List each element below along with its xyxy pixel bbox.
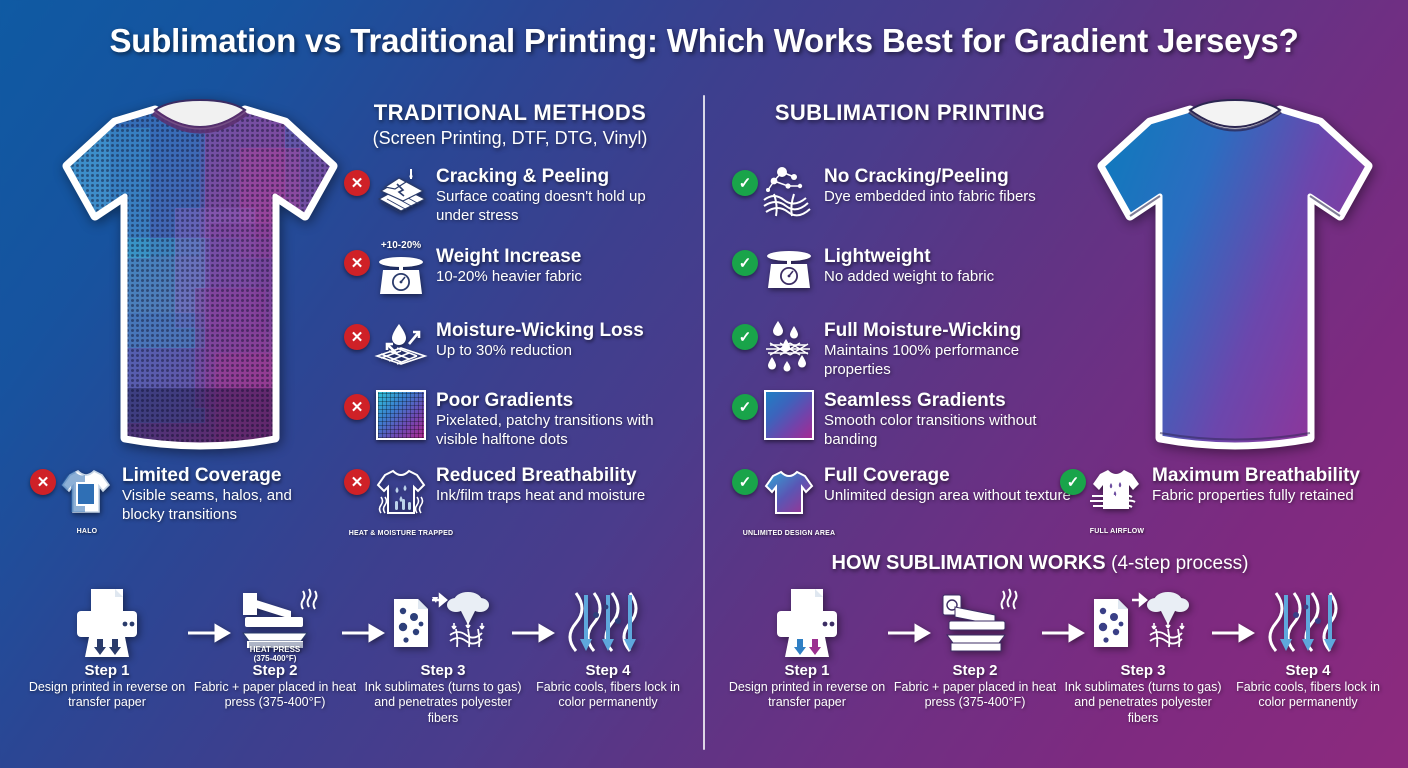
halftone-gradient-swatch-icon	[372, 386, 430, 444]
traditional-subheading: (Screen Printing, DTF, DTG, Vinyl)	[330, 128, 690, 149]
right-process-step-3: Step 3 Ink sublimates (turns to gas) and…	[1058, 584, 1228, 726]
process-heading: HOW SUBLIMATION WORKS (4-step process)	[720, 552, 1360, 575]
x-badge-icon: ✕	[344, 324, 370, 350]
check-badge-icon: ✓	[732, 394, 758, 420]
column-divider	[703, 95, 705, 750]
gas-penetration-icon	[358, 584, 528, 662]
item-desc: Visible seams, halos, and blocky transit…	[122, 487, 337, 524]
infographic-canvas: Sublimation vs Traditional Printing: Whi…	[0, 0, 1408, 768]
shirt-halo-icon: HALO	[58, 461, 116, 523]
step-label: Step 3	[1058, 662, 1228, 679]
item-desc: Ink/film traps heat and moisture	[436, 487, 684, 505]
step-label: Step 1	[22, 662, 192, 679]
halo-label: HALO	[77, 528, 98, 535]
item-desc: Smooth color transitions without banding	[824, 412, 1072, 449]
right-process-step-2: Step 2 Fabric + paper placed in heat pre…	[890, 584, 1060, 711]
item-title: Maximum Breathability	[1152, 465, 1408, 486]
x-badge-icon: ✕	[344, 250, 370, 276]
step-label: Step 3	[358, 662, 528, 679]
right-process-step-4: Step 4 Fabric cools, fibers lock in colo…	[1228, 584, 1388, 711]
airflow-shirt-icon: FULL AIRFLOW	[1088, 461, 1146, 523]
printer-icon	[722, 584, 892, 662]
item-title: Moisture-Wicking Loss	[436, 320, 684, 341]
traditional-item-coverage: ✕ HALO Limited Coverage Visible seams, h…	[30, 465, 350, 524]
gradient-shirt-icon: UNLIMITED DESIGN AREA	[760, 461, 818, 525]
step-desc: Ink sublimates (turns to gas) and penetr…	[1058, 680, 1228, 726]
item-title: Poor Gradients	[436, 390, 684, 411]
sublimation-column-header: SUBLIMATION PRINTING	[720, 100, 1100, 126]
step-desc: Fabric cools, fibers lock in color perma…	[1228, 680, 1388, 711]
item-desc: Unlimited design area without texture	[824, 487, 1072, 505]
unlimited-design-area-label: UNLIMITED DESIGN AREA	[743, 530, 836, 537]
step-desc: Fabric + paper placed in heat press (375…	[190, 680, 360, 711]
traditional-item-weight: ✕ +10-20% Weight Increase 10-20% heavier…	[344, 246, 684, 300]
item-title: Cracking & Peeling	[436, 166, 676, 187]
item-desc: Maintains 100% performance properties	[824, 342, 1072, 379]
traditional-item-gradients: ✕ Poor Gradients Pixelated, patchy trans…	[344, 390, 684, 449]
heat-press-icon	[890, 584, 1060, 662]
step-label: Step 4	[528, 662, 688, 679]
item-title: No Cracking/Peeling	[824, 166, 1072, 187]
kitchen-scale-icon: +10-20%	[372, 242, 430, 300]
sublimation-jersey-image	[1085, 88, 1385, 473]
traditional-item-moisture: ✕ Moisture-Wicking Loss Up to 30% reduct…	[344, 320, 684, 374]
item-desc: 10-20% heavier fabric	[436, 268, 676, 286]
item-title: Lightweight	[824, 246, 1072, 267]
x-badge-icon: ✕	[344, 170, 370, 196]
right-process-step-1: Step 1 Design printed in reverse on tran…	[722, 584, 892, 711]
step-desc: Design printed in reverse on transfer pa…	[22, 680, 192, 711]
step-desc: Fabric + paper placed in heat press (375…	[890, 680, 1060, 711]
item-desc: Pixelated, patchy transitions with visib…	[436, 412, 684, 449]
water-droplets-mesh-icon	[760, 316, 818, 374]
item-title: Limited Coverage	[122, 465, 337, 486]
page-title: Sublimation vs Traditional Printing: Whi…	[0, 22, 1408, 60]
left-process-step-1: Step 1 Design printed in reverse on tran…	[22, 584, 192, 711]
fiber-lock-icon	[1228, 584, 1388, 662]
sublimation-item-moisture: ✓ Full Moisture-Wicking	[732, 320, 1072, 379]
item-desc: Fabric properties fully retained	[1152, 487, 1408, 505]
left-process-step-3: Step 3 Ink sublimates (turns to gas) and…	[358, 584, 528, 726]
smooth-gradient-swatch-icon	[760, 386, 818, 444]
kitchen-scale-icon	[760, 242, 818, 300]
dye-molecule-fibers-icon	[760, 162, 818, 220]
item-desc: Dye embedded into fabric fibers	[824, 188, 1072, 206]
step-label: Step 2	[190, 662, 360, 679]
step-label: Step 2	[890, 662, 1060, 679]
item-title: Full Moisture-Wicking	[824, 320, 1072, 341]
traditional-jersey-image	[55, 88, 345, 473]
heat-press-icon-label: HEAT PRESS (375-400°F)	[250, 646, 301, 664]
heat-moisture-label: HEAT & MOISTURE TRAPPED	[349, 530, 453, 537]
item-desc: Up to 30% reduction	[436, 342, 684, 360]
sweaty-shirt-icon: HEAT & MOISTURE TRAPPED	[372, 461, 430, 525]
item-title: Seamless Gradients	[824, 390, 1072, 411]
traditional-column-header: TRADITIONAL METHODS (Screen Printing, DT…	[330, 100, 690, 149]
step-label: Step 4	[1228, 662, 1388, 679]
check-badge-icon: ✓	[732, 250, 758, 276]
check-badge-icon: ✓	[732, 170, 758, 196]
step-desc: Design printed in reverse on transfer pa…	[722, 680, 892, 711]
check-badge-icon: ✓	[732, 469, 758, 495]
step-desc: Ink sublimates (turns to gas) and penetr…	[358, 680, 528, 726]
full-airflow-label: FULL AIRFLOW	[1090, 528, 1145, 535]
traditional-item-cracking: ✕ Cracking & Peeling Surface coating doe…	[344, 166, 684, 225]
sublimation-heading: SUBLIMATION PRINTING	[720, 100, 1100, 126]
check-badge-icon: ✓	[732, 324, 758, 350]
fiber-lock-icon	[528, 584, 688, 662]
left-process-step-2: HEAT PRESS (375-400°F) Step 2 Fabric + p…	[190, 584, 360, 711]
traditional-heading: TRADITIONAL METHODS	[330, 100, 690, 126]
sublimation-item-breathability: ✓ FULL AIRFLOW Maximum Breathability	[1060, 465, 1408, 523]
sublimation-item-gradients: ✓ Seamless Gradients Smooth color transi…	[732, 390, 1072, 449]
sublimation-item-lightweight: ✓ Lightweight No added weight to fabric	[732, 246, 1072, 300]
gas-penetration-icon	[1058, 584, 1228, 662]
sublimation-item-coverage: ✓ UNLIMITED DESIGN AREA Full Coverage Un…	[732, 465, 1072, 525]
item-desc: Surface coating doesn't hold up under st…	[436, 188, 676, 225]
cracked-layers-icon	[372, 162, 430, 220]
item-title: Weight Increase	[436, 246, 676, 267]
water-repel-fabric-icon	[372, 316, 430, 374]
printer-icon	[22, 584, 192, 662]
process-heading-sub: (4-step process)	[1111, 553, 1248, 574]
step-label: Step 1	[722, 662, 892, 679]
item-desc: No added weight to fabric	[824, 268, 1072, 286]
item-title: Full Coverage	[824, 465, 1072, 486]
heat-press-icon: HEAT PRESS (375-400°F)	[190, 584, 360, 662]
x-badge-icon: ✕	[344, 394, 370, 420]
check-badge-icon: ✓	[1060, 469, 1086, 495]
item-title: Reduced Breathability	[436, 465, 684, 486]
sublimation-item-nocracking: ✓ No Crackin	[732, 166, 1072, 220]
x-badge-icon: ✕	[30, 469, 56, 495]
traditional-item-breathability: ✕ HEAT & MOISTURE TR	[344, 465, 684, 525]
process-heading-main: HOW SUBLIMATION WORKS	[832, 552, 1106, 574]
step-desc: Fabric cools, fibers lock in color perma…	[528, 680, 688, 711]
left-process-step-4: Step 4 Fabric cools, fibers lock in colo…	[528, 584, 688, 711]
